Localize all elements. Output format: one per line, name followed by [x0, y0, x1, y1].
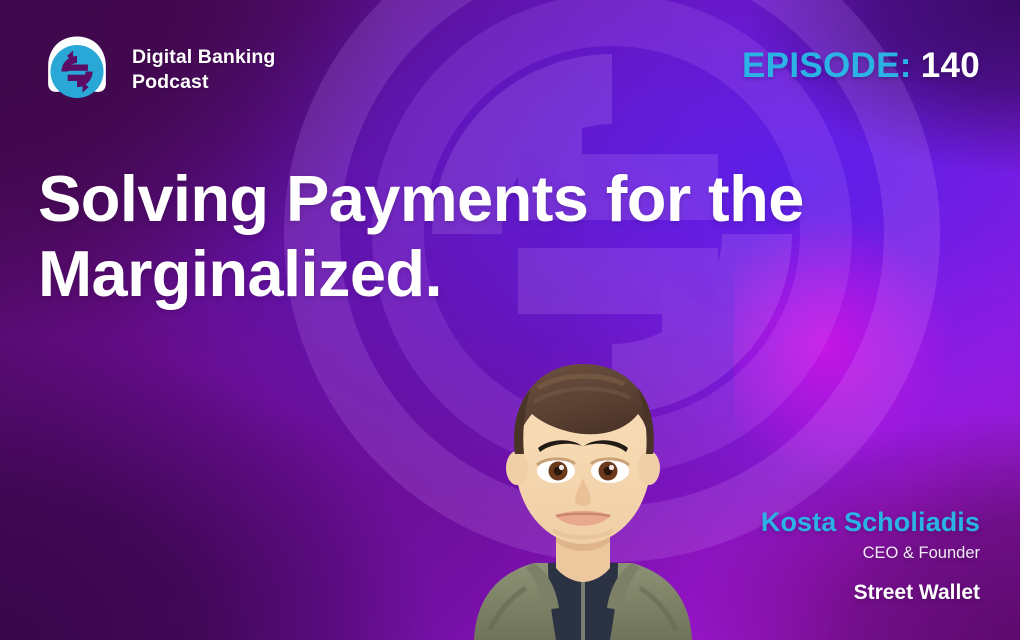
episode-label: EPISODE:: [742, 46, 912, 85]
podcast-episode-card: Digital Banking Podcast EPISODE:140 Solv…: [0, 0, 1020, 640]
guest-company: Street Wallet: [761, 579, 980, 606]
brand-name-line2: Podcast: [132, 70, 275, 95]
episode-title-line1: Solving Payments for the: [38, 162, 938, 237]
guest-name: Kosta Scholiadis: [761, 507, 980, 539]
guest-info: Kosta Scholiadis CEO & Founder Street Wa…: [761, 507, 980, 606]
brand-name: Digital Banking Podcast: [132, 45, 275, 95]
podcast-headphones-logo-icon: [38, 31, 116, 109]
brand-name-line1: Digital Banking: [132, 46, 275, 68]
episode-number: 140: [921, 46, 980, 85]
episode-badge: EPISODE:140: [742, 46, 980, 86]
brand-logo: Digital Banking Podcast: [38, 31, 275, 109]
guest-role: CEO & Founder: [761, 541, 980, 566]
episode-title-line2: Marginalized.: [38, 237, 938, 312]
episode-title: Solving Payments for the Marginalized.: [38, 162, 938, 312]
guest-avatar-illustration-icon: [438, 330, 728, 640]
